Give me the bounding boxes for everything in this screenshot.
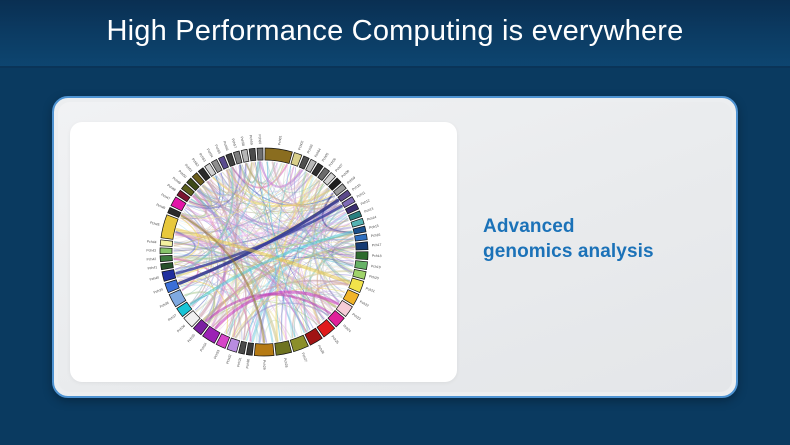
circos-segment-label: Pch14 xyxy=(366,215,376,222)
circos-segment-label: Pch57 xyxy=(230,138,236,148)
circos-segment-label: Pch06 xyxy=(327,157,336,167)
circos-segment-label: Pch02 xyxy=(297,140,304,151)
circos-segment xyxy=(160,262,173,269)
circos-segment-label: Pch32 xyxy=(225,354,232,364)
circos-segment-label: Pch15 xyxy=(368,224,378,230)
circos-segment xyxy=(354,261,367,270)
circos-segment-label: Pch11 xyxy=(355,191,365,199)
circos-segment xyxy=(160,255,172,261)
circos-segment-label: Pch38 xyxy=(159,301,169,309)
circos-segment xyxy=(352,269,365,279)
circos-segment-label: Pch56 xyxy=(222,141,229,152)
circos-segment-label: Pch39 xyxy=(152,287,163,294)
slide-header: High Performance Computing is everywhere xyxy=(0,0,790,66)
circos-segment-label: Pch24 xyxy=(342,324,352,334)
circos-segment-label: Pch30 xyxy=(245,359,250,369)
circos-segment-label: Pch08 xyxy=(340,169,350,179)
circos-segment-label: Pch51 xyxy=(183,163,192,173)
circos-segment-label: Pch58 xyxy=(239,136,245,146)
circos-segment-label: Pch43 xyxy=(146,249,156,253)
circos-segment-label: Pch04 xyxy=(313,148,321,158)
page-title: High Performance Computing is everywhere xyxy=(0,15,790,48)
circos-segment xyxy=(160,240,172,247)
circos-segment-label: Pch31 xyxy=(236,357,242,367)
circos-segment-label: Pch01 xyxy=(277,135,282,145)
circos-segment-label: Pch55 xyxy=(213,144,221,155)
circos-segment-label: Pch27 xyxy=(300,352,307,363)
circos-segment xyxy=(353,226,366,234)
header-divider xyxy=(0,66,790,68)
circos-segment-label: Pch21 xyxy=(365,286,376,293)
circos-segment-label: Pch22 xyxy=(359,300,369,308)
circos-segment-label: Pch09 xyxy=(346,176,356,185)
circos-segment-label: Pch48 xyxy=(166,183,176,192)
circos-segment-label: Pch52 xyxy=(190,157,199,167)
circos-segment-label: Pch50 xyxy=(177,169,187,179)
circos-segment-label: Pch28 xyxy=(282,358,288,368)
circos-segment-label: Pch60 xyxy=(257,134,261,144)
circos-segment xyxy=(246,343,253,356)
circos-ribbons xyxy=(174,162,354,342)
circos-segment-label: Pch12 xyxy=(360,198,370,206)
circos-segment xyxy=(254,344,274,356)
circos-segment-label: Pch33 xyxy=(212,349,220,360)
circos-segment-label: Pch19 xyxy=(370,264,380,269)
circos-segment xyxy=(249,148,256,161)
circos-segment-label: Pch59 xyxy=(248,135,253,145)
content-card: Pch01Pch02Pch03Pch04Pch05Pch06Pch07Pch08… xyxy=(52,96,738,398)
slide-root: High Performance Computing is everywhere… xyxy=(0,0,790,445)
circos-segment-label: Pch45 xyxy=(149,221,159,227)
figure-panel: Pch01Pch02Pch03Pch04Pch05Pch06Pch07Pch08… xyxy=(70,122,457,382)
circos-segment-label: Pch29 xyxy=(262,360,266,370)
figure-caption: Advanced genomics analysis xyxy=(483,214,723,264)
circos-segment xyxy=(348,278,363,293)
circos-segment-label: Pch44 xyxy=(146,239,156,244)
circos-segment-label: Pch05 xyxy=(321,152,330,162)
circos-segment xyxy=(355,252,367,260)
content-card-inner: Pch01Pch02Pch03Pch04Pch05Pch06Pch07Pch08… xyxy=(58,102,732,392)
circos-segment-label: Pch20 xyxy=(368,274,378,280)
circos-segment-label: Pch53 xyxy=(198,152,207,162)
caption-line-1: Advanced xyxy=(483,214,723,239)
circos-segment xyxy=(274,341,291,356)
circos-segment-label: Pch26 xyxy=(316,344,324,354)
circos-segment-label: Pch23 xyxy=(351,312,361,321)
circos-segment-label: Pch13 xyxy=(363,207,374,214)
circos-segment xyxy=(241,149,249,162)
circos-segment-label: Pch35 xyxy=(186,333,195,343)
circos-segment xyxy=(159,248,171,254)
circos-segment-label: Pch36 xyxy=(176,324,186,334)
circos-segment-label: Pch10 xyxy=(351,183,361,192)
circos-segment-label: Pch34 xyxy=(199,342,208,352)
circos-segment-label: Pch03 xyxy=(306,144,314,155)
circos-segment-label: Pch07 xyxy=(334,163,343,173)
circos-chord-diagram: Pch01Pch02Pch03Pch04Pch05Pch06Pch07Pch08… xyxy=(135,123,393,381)
circos-segment-label: Pch37 xyxy=(167,313,177,322)
circos-segment xyxy=(355,242,367,250)
circos-segment-label: Pch42 xyxy=(146,257,156,262)
circos-segment xyxy=(257,148,263,160)
circos-segment-label: Pch40 xyxy=(149,275,159,281)
caption-line-2: genomics analysis xyxy=(483,239,723,264)
circos-segment xyxy=(354,234,367,241)
circos-segment-label: Pch25 xyxy=(330,335,339,345)
circos-segment xyxy=(264,148,291,163)
circos-segment-label: Pch54 xyxy=(205,148,213,158)
circos-segment xyxy=(161,269,175,281)
circos-segment-label: Pch46 xyxy=(155,203,166,211)
circos-segment-label: Pch41 xyxy=(147,265,157,270)
circos-segment xyxy=(227,338,240,352)
circos-segment-label: Pch47 xyxy=(160,193,170,201)
circos-segment xyxy=(238,341,246,354)
circos-svg: Pch01Pch02Pch03Pch04Pch05Pch06Pch07Pch08… xyxy=(135,123,393,381)
circos-segment-label: Pch17 xyxy=(371,243,381,248)
circos-segment-label: Pch49 xyxy=(171,176,181,185)
circos-segment-label: Pch16 xyxy=(370,233,380,238)
circos-segment-label: Pch18 xyxy=(371,254,381,258)
